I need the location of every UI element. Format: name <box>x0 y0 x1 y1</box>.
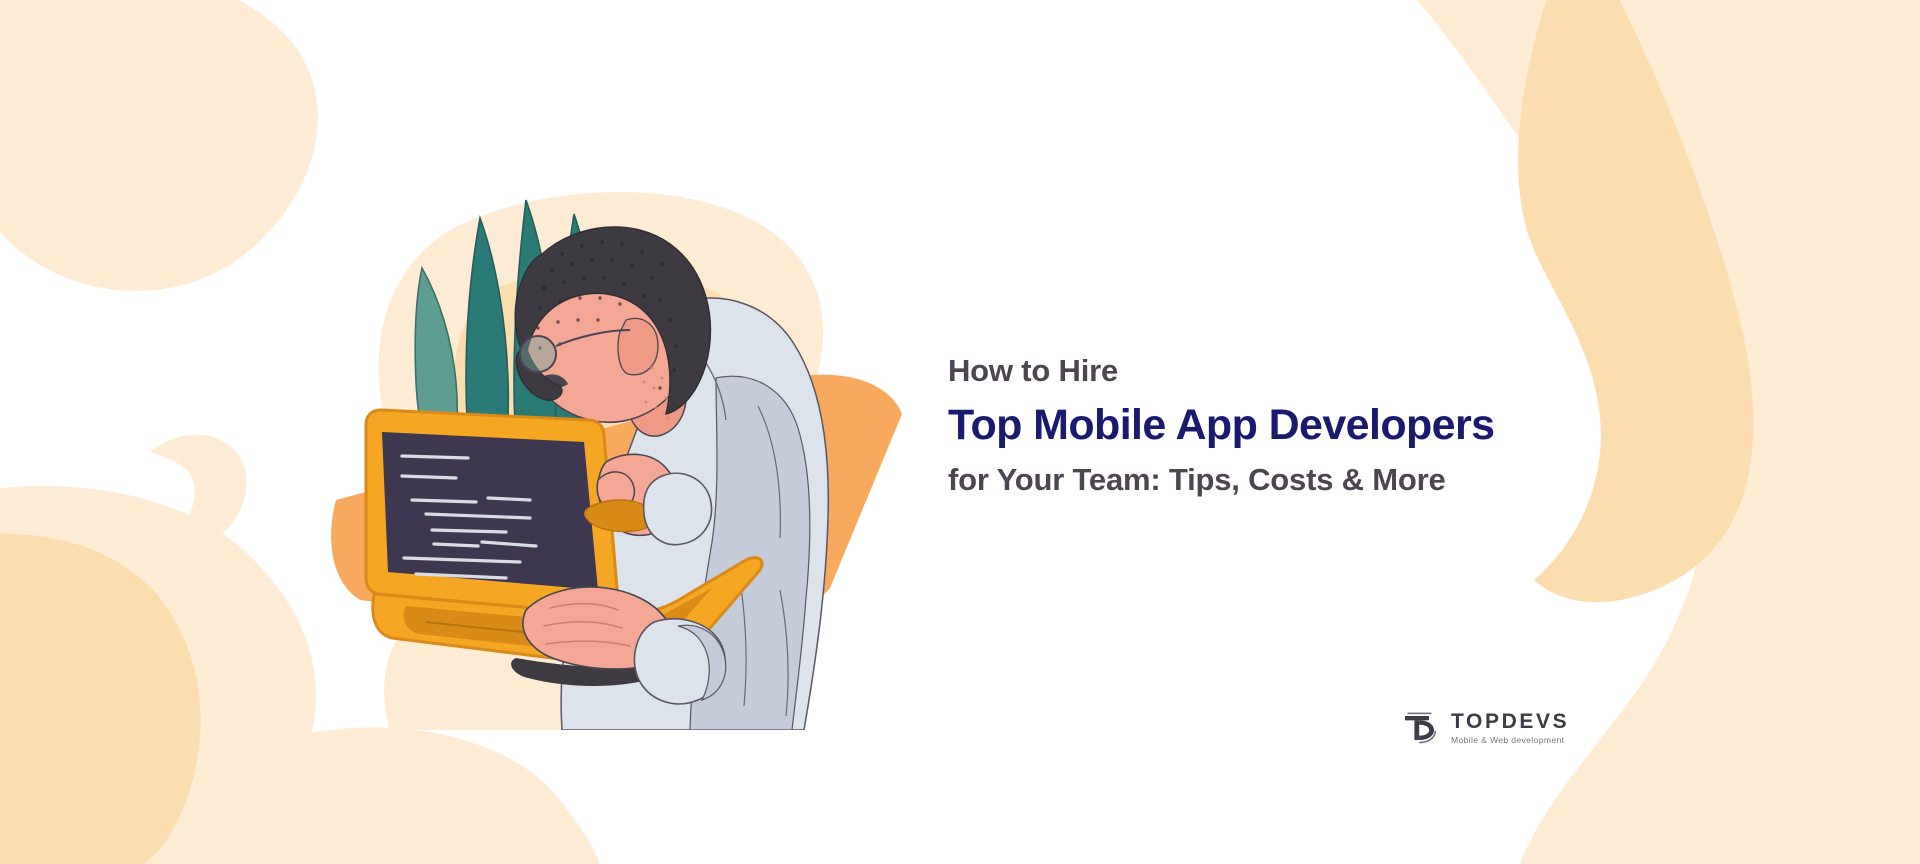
heading-block: How to Hire Top Mobile App Developers fo… <box>948 352 1648 500</box>
brand-logo[interactable]: TOPDEVS Mobile & Web development <box>1402 708 1569 748</box>
hero-banner: How to Hire Top Mobile App Developers fo… <box>0 0 1920 864</box>
blob-top-left <box>0 0 318 291</box>
ear <box>618 318 658 374</box>
logo-wordmark: TOPDEVS <box>1451 711 1569 733</box>
right-cuff <box>644 473 712 544</box>
glasses-lens <box>520 336 556 372</box>
logo-text-group: TOPDEVS Mobile & Web development <box>1451 711 1569 745</box>
subtitle-text: for Your Team: Tips, Costs & More <box>948 461 1648 500</box>
td-monogram-icon <box>1402 708 1442 748</box>
developer-illustration <box>330 170 970 730</box>
logo-tagline: Mobile & Web development <box>1451 735 1569 745</box>
page-title: Top Mobile App Developers <box>948 400 1648 452</box>
eyebrow-text: How to Hire <box>948 352 1648 391</box>
